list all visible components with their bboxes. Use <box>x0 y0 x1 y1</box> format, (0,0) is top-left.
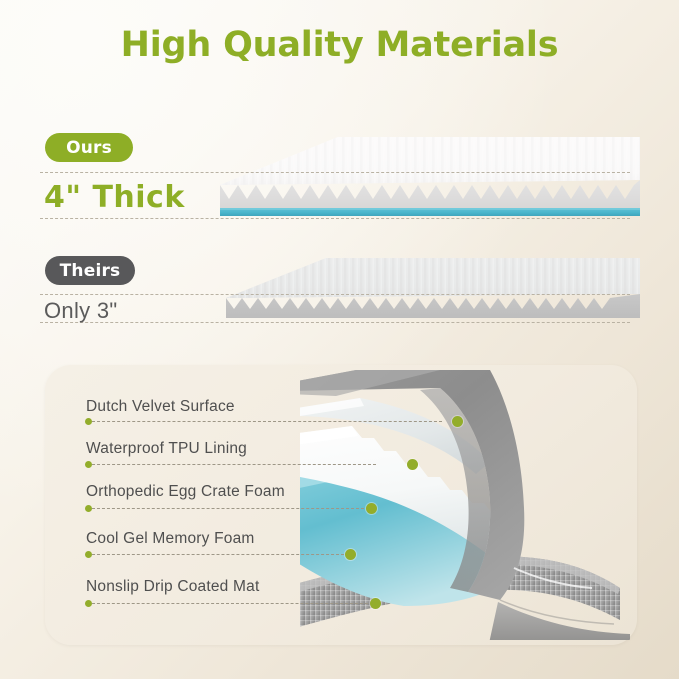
layer-dot-start-2 <box>85 505 92 512</box>
layer-dot-end-3 <box>345 549 356 560</box>
layer-dot-end-2 <box>366 503 377 514</box>
layer-leader-line-3 <box>92 554 344 555</box>
layer-leader-line-1 <box>92 464 376 465</box>
layer-label-0: Dutch Velvet Surface <box>86 398 235 416</box>
ours-measure-line-top <box>40 172 630 173</box>
ours-thickness-label: 4" Thick <box>44 180 185 215</box>
layer-leader-line-0 <box>92 421 442 422</box>
layer-dot-start-4 <box>85 600 92 607</box>
layer-leader-line-4 <box>92 603 368 604</box>
theirs-thickness-label: Only 3" <box>44 298 118 324</box>
layer-label-3: Cool Gel Memory Foam <box>86 530 255 548</box>
layer-label-1: Waterproof TPU Lining <box>86 440 247 458</box>
theirs-mattress-illustration <box>208 254 640 326</box>
layer-leader-line-2 <box>92 508 364 509</box>
theirs-measure-line-top <box>40 294 630 295</box>
page-title: High Quality Materials <box>0 25 679 65</box>
layer-dot-end-1 <box>407 459 418 470</box>
ours-measure-line-bottom <box>40 218 630 219</box>
badge-theirs: Theirs <box>45 256 135 285</box>
theirs-measure-line-bottom <box>40 322 630 323</box>
badge-ours-label: Ours <box>66 138 112 158</box>
layer-label-4: Nonslip Drip Coated Mat <box>86 578 259 596</box>
ours-mattress-illustration <box>198 133 640 225</box>
layer-dot-end-4 <box>370 598 381 609</box>
layer-dot-start-0 <box>85 418 92 425</box>
layered-mattress-topper-cutaway-icon <box>300 370 640 640</box>
infographic-canvas: High Quality Materials <box>0 0 679 679</box>
layer-dot-start-1 <box>85 461 92 468</box>
layer-dot-start-3 <box>85 551 92 558</box>
layer-dot-end-0 <box>452 416 463 427</box>
layer-label-2: Orthopedic Egg Crate Foam <box>86 483 285 501</box>
badge-ours: Ours <box>45 133 133 162</box>
badge-theirs-label: Theirs <box>60 261 121 281</box>
